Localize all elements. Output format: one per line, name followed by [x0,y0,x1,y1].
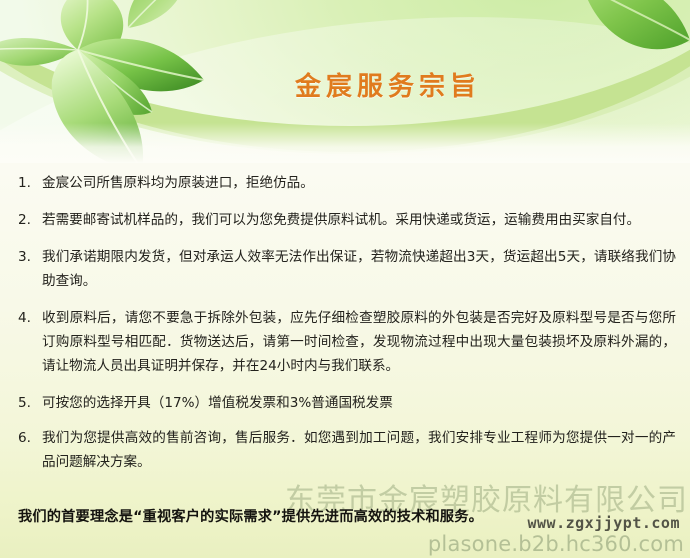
list-item-text: 若需要邮寄试机样品的，我们可以为您免费提供原料试机。采用快递或货运，运输费用由买… [42,208,676,232]
list-item-text: 我们为您提供高效的售前咨询，售后服务．如您遇到加工问题，我们安排专业工程师为您提… [42,426,676,474]
list-item-number: 6. [18,426,42,450]
terms-list: 1. 金宸公司所售原料均为原装进口，拒绝仿品。 2. 若需要邮寄试机样品的，我们… [0,163,690,487]
list-item-text: 我们承诺期限内发货，但对承运人效率无法作出保证，若物流快递超出3天，货运超出5天… [42,245,676,293]
list-item: 3. 我们承诺期限内发货，但对承运人效率无法作出保证，若物流快递超出3天，货运超… [18,245,676,293]
banner-bottom-fade [0,123,690,163]
list-item: 5. 可按您的选择开具（17%）增值税发票和3%普通国税发票 [18,391,676,415]
list-item-number: 1. [18,171,42,195]
primary-url-watermark: www.zgxjjypt.com [528,515,681,532]
list-item: 6. 我们为您提供高效的售前咨询，售后服务．如您遇到加工问题，我们安排专业工程师… [18,426,676,474]
service-policy-page: 金宸服务宗旨 1. 金宸公司所售原料均为原装进口，拒绝仿品。 2. 若需要邮寄试… [0,0,690,558]
list-item-number: 5. [18,391,42,415]
list-item-number: 3. [18,245,42,269]
list-item-number: 4. [18,306,42,330]
list-item: 1. 金宸公司所售原料均为原装进口，拒绝仿品。 [18,171,676,195]
page-title: 金宸服务宗旨 [0,66,690,103]
list-item-number: 2. [18,208,42,232]
leaf-top-right-icon [576,0,690,76]
list-item-text: 收到原料后，请您不要急于拆除外包装，应先仔细检查塑胶原料的外包装是否完好及原料型… [42,306,676,378]
header-banner: 金宸服务宗旨 [0,0,690,163]
list-item-text: 金宸公司所售原料均为原装进口，拒绝仿品。 [42,171,676,195]
list-item: 4. 收到原料后，请您不要急于拆除外包装，应先仔细检查塑胶原料的外包装是否完好及… [18,306,676,378]
secondary-url-watermark: plasone.b2b.hc360.com [428,532,684,556]
list-item: 2. 若需要邮寄试机样品的，我们可以为您免费提供原料试机。采用快递或货运，运输费… [18,208,676,232]
list-item-text: 可按您的选择开具（17%）增值税发票和3%普通国税发票 [42,391,676,415]
